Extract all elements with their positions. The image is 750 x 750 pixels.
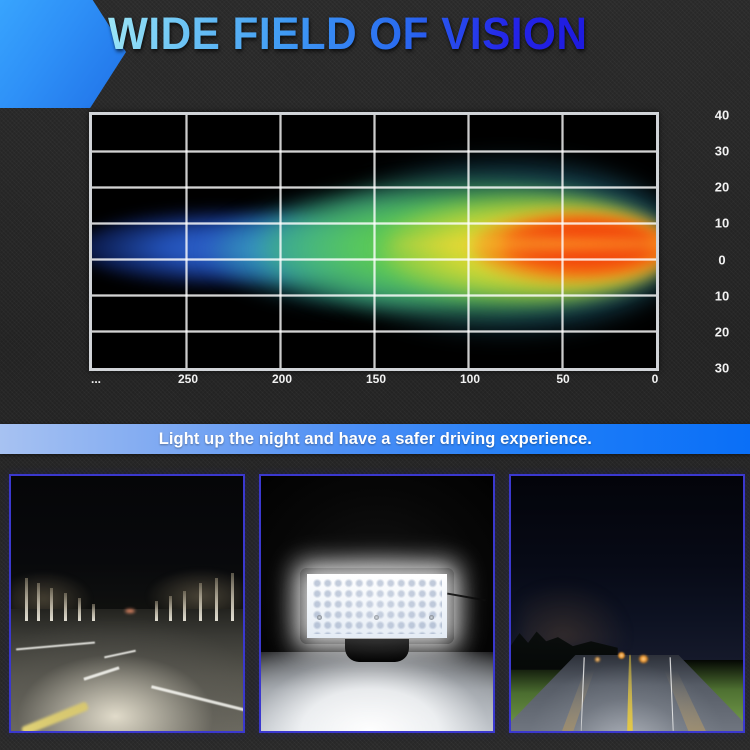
roadside-tree xyxy=(37,583,40,621)
x-axis-tick-label: 0 xyxy=(652,372,659,386)
roadside-tree xyxy=(92,604,95,622)
roadside-tree xyxy=(64,593,67,621)
y-axis-tick-label: 10 xyxy=(694,216,750,231)
roadside-tree xyxy=(215,578,218,621)
x-axis-tick-label: 200 xyxy=(272,372,292,386)
product-infographic: WIDE FIELD OF VISION 403020100102030 ...… xyxy=(0,0,750,750)
x-axis-tick-label: 100 xyxy=(460,372,480,386)
photo-night-highway-lit[interactable] xyxy=(509,474,745,733)
page-title: WIDE FIELD OF VISION xyxy=(108,4,634,64)
distant-vehicle-light xyxy=(618,652,625,659)
x-axis-tick-label: 50 xyxy=(556,372,569,386)
road-surface-lit xyxy=(11,609,243,731)
chart-plot-area xyxy=(92,115,656,368)
photo-led-light-bar[interactable] xyxy=(259,474,495,733)
photo-night-road-tree-lined[interactable] xyxy=(9,474,245,733)
roadside-tree xyxy=(199,583,202,621)
distant-vehicle-light xyxy=(595,657,600,662)
distant-vehicle-light xyxy=(125,609,135,613)
roadside-tree xyxy=(25,578,28,621)
y-axis-tick-label: 10 xyxy=(694,288,750,303)
roadside-tree xyxy=(50,588,53,621)
tagline-banner: Light up the night and have a safer driv… xyxy=(0,424,750,454)
x-axis-tick-label: 150 xyxy=(366,372,386,386)
y-axis-tick-label: 30 xyxy=(694,361,750,376)
x-axis-tick-label: ... xyxy=(91,372,101,386)
tagline-text: Light up the night and have a safer driv… xyxy=(158,429,591,449)
header-banner: WIDE FIELD OF VISION xyxy=(0,0,750,108)
y-axis-tick-label: 40 xyxy=(694,108,750,123)
roadside-tree xyxy=(155,601,158,621)
photo-gallery xyxy=(0,468,750,736)
y-axis-tick-label: 30 xyxy=(694,144,750,159)
beam-heatmap xyxy=(92,115,656,368)
roadside-tree xyxy=(169,596,172,622)
roadside-tree xyxy=(78,598,81,621)
distant-vehicle-light xyxy=(639,655,648,663)
beam-pattern-chart: 403020100102030 ...250200150100500 xyxy=(0,108,750,408)
x-axis-tick-label: 250 xyxy=(178,372,198,386)
roadside-tree xyxy=(231,573,234,621)
y-axis-tick-label: 20 xyxy=(694,324,750,339)
y-axis-tick-label: 0 xyxy=(694,252,750,267)
roadside-tree xyxy=(183,591,186,622)
light-glow xyxy=(275,547,479,664)
y-axis-tick-label: 20 xyxy=(694,180,750,195)
